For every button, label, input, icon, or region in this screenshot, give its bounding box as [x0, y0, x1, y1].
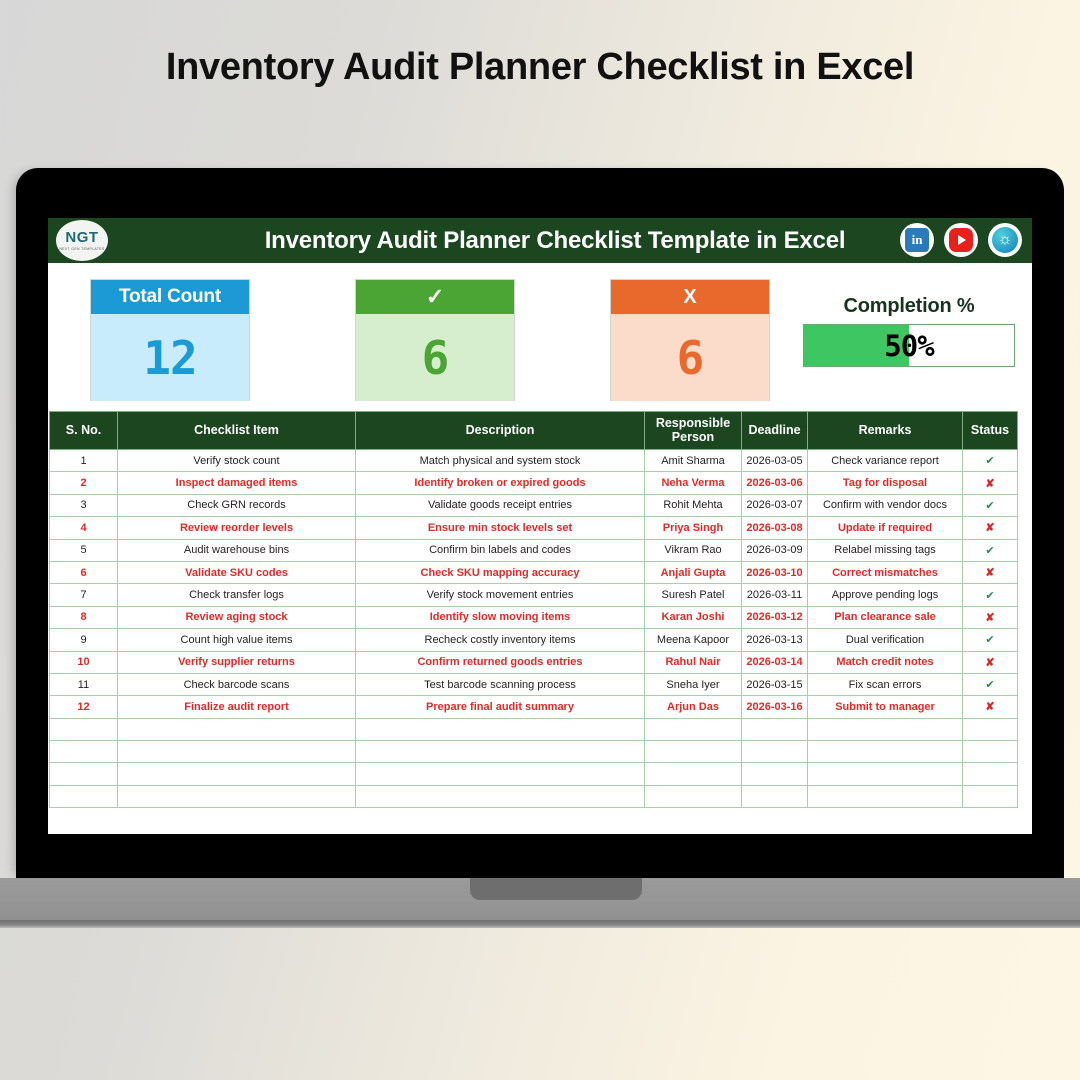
table-header-row: S. No. Checklist Item Description Respon… — [50, 412, 1018, 450]
workbook-title: Inventory Audit Planner Checklist Templa… — [48, 227, 1032, 255]
cell-sno[interactable]: 3 — [50, 494, 118, 516]
cell-remarks[interactable]: Approve pending logs — [808, 584, 963, 606]
cell-desc[interactable]: Match physical and system stock — [356, 450, 645, 472]
cell-person[interactable]: Karan Joshi — [645, 606, 742, 628]
cell-person[interactable] — [645, 785, 742, 807]
cell-sno[interactable]: 5 — [50, 539, 118, 561]
kpi-pending-caption: X — [611, 280, 769, 314]
spreadsheet-screen: NGT NEXT GEN TEMPLATES Inventory Audit P… — [48, 218, 1032, 834]
col-header-item[interactable]: Checklist Item — [118, 412, 356, 450]
cell-sno[interactable] — [50, 763, 118, 785]
cell-status[interactable]: ✘ — [963, 517, 1018, 539]
cell-deadline[interactable]: 2026-03-09 — [742, 539, 808, 561]
checklist-table-wrap: S. No. Checklist Item Description Respon… — [48, 411, 1032, 808]
cell-desc[interactable]: Prepare final audit summary — [356, 696, 645, 718]
cell-deadline[interactable]: 2026-03-10 — [742, 561, 808, 583]
completion-progress-bar: 50% — [803, 324, 1015, 367]
table-row[interactable] — [50, 763, 1018, 785]
cell-status[interactable]: ✘ — [963, 651, 1018, 673]
website-icon[interactable]: ☼ — [988, 223, 1022, 257]
youtube-glyph — [949, 228, 973, 252]
brand-logo-tagline: NEXT GEN TEMPLATES — [59, 247, 104, 251]
cell-item[interactable]: Review reorder levels — [118, 517, 356, 539]
cell-sno[interactable]: 2 — [50, 472, 118, 494]
cell-desc[interactable]: Validate goods receipt entries — [356, 494, 645, 516]
cell-status[interactable]: ✔ — [963, 673, 1018, 695]
cell-remarks[interactable] — [808, 718, 963, 740]
cell-status[interactable] — [963, 741, 1018, 763]
cell-person[interactable] — [645, 718, 742, 740]
cell-item[interactable]: Audit warehouse bins — [118, 539, 356, 561]
cell-remarks[interactable] — [808, 763, 963, 785]
cell-item[interactable]: Check barcode scans — [118, 673, 356, 695]
cell-item[interactable]: Count high value items — [118, 629, 356, 651]
checklist-table: S. No. Checklist Item Description Respon… — [49, 411, 1018, 808]
cell-remarks[interactable]: Check variance report — [808, 450, 963, 472]
cell-sno[interactable] — [50, 741, 118, 763]
cell-status[interactable]: ✔ — [963, 450, 1018, 472]
cell-remarks[interactable] — [808, 785, 963, 807]
cell-deadline[interactable] — [742, 718, 808, 740]
cell-item[interactable]: Review aging stock — [118, 606, 356, 628]
table-row[interactable]: 7Check transfer logsVerify stock movemen… — [50, 584, 1018, 606]
kpi-card-completed: ✓ 6 — [355, 279, 515, 401]
table-row[interactable]: 4Review reorder levelsEnsure min stock l… — [50, 517, 1018, 539]
cell-remarks[interactable] — [808, 741, 963, 763]
completion-widget: Completion % 50% — [803, 295, 1015, 367]
col-header-deadline[interactable]: Deadline — [742, 412, 808, 450]
brand-logo: NGT NEXT GEN TEMPLATES — [56, 220, 108, 261]
globe-glyph: ☼ — [992, 227, 1018, 253]
cell-deadline[interactable]: 2026-03-16 — [742, 696, 808, 718]
kpi-completed-value: 6 — [356, 314, 514, 401]
cell-status[interactable] — [963, 763, 1018, 785]
cell-item[interactable]: Check GRN records — [118, 494, 356, 516]
cell-deadline[interactable]: 2026-03-11 — [742, 584, 808, 606]
cell-desc[interactable]: Verify stock movement entries — [356, 584, 645, 606]
cell-status[interactable]: ✔ — [963, 629, 1018, 651]
cell-remarks[interactable]: Correct mismatches — [808, 561, 963, 583]
cell-sno[interactable]: 12 — [50, 696, 118, 718]
cell-deadline[interactable]: 2026-03-12 — [742, 606, 808, 628]
kpi-completed-caption: ✓ — [356, 280, 514, 314]
cell-sno[interactable]: 7 — [50, 584, 118, 606]
cell-person[interactable] — [645, 741, 742, 763]
cell-deadline[interactable]: 2026-03-05 — [742, 450, 808, 472]
cell-sno[interactable]: 9 — [50, 629, 118, 651]
cell-remarks[interactable]: Fix scan errors — [808, 673, 963, 695]
cell-person[interactable]: Neha Verma — [645, 472, 742, 494]
kpi-card-pending: X 6 — [610, 279, 770, 401]
cell-person[interactable]: Rohit Mehta — [645, 494, 742, 516]
cell-sno[interactable]: 4 — [50, 517, 118, 539]
cell-desc[interactable]: Confirm returned goods entries — [356, 651, 645, 673]
youtube-icon[interactable] — [944, 223, 978, 257]
cell-sno[interactable]: 10 — [50, 651, 118, 673]
cell-deadline[interactable]: 2026-03-06 — [742, 472, 808, 494]
cell-status[interactable]: ✔ — [963, 584, 1018, 606]
cell-remarks[interactable]: Match credit notes — [808, 651, 963, 673]
cell-status[interactable] — [963, 785, 1018, 807]
cell-person[interactable] — [645, 763, 742, 785]
cell-desc[interactable] — [356, 763, 645, 785]
table-row[interactable]: 2Inspect damaged itemsIdentify broken or… — [50, 472, 1018, 494]
cell-status[interactable]: ✘ — [963, 472, 1018, 494]
cell-deadline[interactable] — [742, 763, 808, 785]
kpi-pending-value: 6 — [611, 314, 769, 401]
checklist-table-body: 1Verify stock countMatch physical and sy… — [50, 450, 1018, 808]
cell-sno[interactable]: 11 — [50, 673, 118, 695]
cell-deadline[interactable] — [742, 741, 808, 763]
kpi-total-value: 12 — [91, 314, 249, 401]
cell-item[interactable]: Inspect damaged items — [118, 472, 356, 494]
cell-remarks[interactable]: Update if required — [808, 517, 963, 539]
table-row[interactable]: 10Verify supplier returnsConfirm returne… — [50, 651, 1018, 673]
cell-status[interactable]: ✔ — [963, 539, 1018, 561]
cell-item[interactable]: Check transfer logs — [118, 584, 356, 606]
linkedin-glyph: in — [905, 228, 929, 252]
table-row[interactable]: 1Verify stock countMatch physical and sy… — [50, 450, 1018, 472]
cell-sno[interactable] — [50, 785, 118, 807]
cell-status[interactable]: ✘ — [963, 606, 1018, 628]
kpi-total-caption: Total Count — [91, 280, 249, 314]
cell-remarks[interactable]: Confirm with vendor docs — [808, 494, 963, 516]
cell-item[interactable] — [118, 741, 356, 763]
cell-deadline[interactable]: 2026-03-14 — [742, 651, 808, 673]
cell-person[interactable]: Meena Kapoor — [645, 629, 742, 651]
cell-deadline[interactable]: 2026-03-07 — [742, 494, 808, 516]
cell-deadline[interactable]: 2026-03-15 — [742, 673, 808, 695]
brand-logo-text: NGT — [65, 230, 98, 245]
cell-remarks[interactable]: Tag for disposal — [808, 472, 963, 494]
cell-deadline[interactable] — [742, 785, 808, 807]
cell-person[interactable]: Suresh Patel — [645, 584, 742, 606]
cell-desc[interactable]: Test barcode scanning process — [356, 673, 645, 695]
cell-person[interactable]: Amit Sharma — [645, 450, 742, 472]
cell-status[interactable] — [963, 718, 1018, 740]
cell-person[interactable]: Arjun Das — [645, 696, 742, 718]
cell-status[interactable]: ✘ — [963, 561, 1018, 583]
completion-label: Completion % — [803, 295, 1015, 318]
linkedin-icon[interactable]: in — [900, 223, 934, 257]
cell-item[interactable]: Validate SKU codes — [118, 561, 356, 583]
cell-desc[interactable] — [356, 718, 645, 740]
cell-desc[interactable]: Identify slow moving items — [356, 606, 645, 628]
cell-remarks[interactable]: Relabel missing tags — [808, 539, 963, 561]
cell-person[interactable]: Sneha Iyer — [645, 673, 742, 695]
cell-item[interactable] — [118, 785, 356, 807]
cell-sno[interactable]: 8 — [50, 606, 118, 628]
col-header-sno[interactable]: S. No. — [50, 412, 118, 450]
col-header-desc[interactable]: Description — [356, 412, 645, 450]
cell-desc[interactable] — [356, 785, 645, 807]
table-row[interactable]: 9Count high value itemsRecheck costly in… — [50, 629, 1018, 651]
cell-remarks[interactable]: Plan clearance sale — [808, 606, 963, 628]
cell-sno[interactable] — [50, 718, 118, 740]
col-header-status[interactable]: Status — [963, 412, 1018, 450]
workbook-header: NGT NEXT GEN TEMPLATES Inventory Audit P… — [48, 218, 1032, 263]
cell-deadline[interactable]: 2026-03-08 — [742, 517, 808, 539]
laptop-mockup: NGT NEXT GEN TEMPLATES Inventory Audit P… — [16, 168, 1064, 878]
kpi-band: Total Count 12 ✓ 6 X 6 Completion % 50% — [48, 263, 1032, 411]
cell-desc[interactable]: Check SKU mapping accuracy — [356, 561, 645, 583]
cell-remarks[interactable]: Submit to manager — [808, 696, 963, 718]
table-row[interactable]: 3Check GRN recordsValidate goods receipt… — [50, 494, 1018, 516]
cell-desc[interactable]: Identify broken or expired goods — [356, 472, 645, 494]
laptop-base-lip — [0, 920, 1080, 928]
table-row[interactable] — [50, 718, 1018, 740]
cell-status[interactable]: ✘ — [963, 696, 1018, 718]
cell-item[interactable] — [118, 763, 356, 785]
completion-value: 50% — [804, 325, 1014, 366]
cell-sno[interactable]: 1 — [50, 450, 118, 472]
cell-person[interactable]: Anjali Gupta — [645, 561, 742, 583]
table-row[interactable]: 8Review aging stockIdentify slow moving … — [50, 606, 1018, 628]
page-title: Inventory Audit Planner Checklist in Exc… — [0, 46, 1080, 89]
kpi-card-total-count: Total Count 12 — [90, 279, 250, 401]
cell-person[interactable]: Vikram Rao — [645, 539, 742, 561]
laptop-base-notch — [470, 878, 642, 900]
table-row[interactable]: 11Check barcode scansTest barcode scanni… — [50, 673, 1018, 695]
cell-desc[interactable] — [356, 741, 645, 763]
cell-person[interactable]: Rahul Nair — [645, 651, 742, 673]
cell-item[interactable]: Finalize audit report — [118, 696, 356, 718]
cell-deadline[interactable]: 2026-03-13 — [742, 629, 808, 651]
table-row[interactable]: 6Validate SKU codesCheck SKU mapping acc… — [50, 561, 1018, 583]
table-row[interactable] — [50, 785, 1018, 807]
cell-desc[interactable]: Ensure min stock levels set — [356, 517, 645, 539]
cell-desc[interactable]: Recheck costly inventory items — [356, 629, 645, 651]
cell-person[interactable]: Priya Singh — [645, 517, 742, 539]
col-header-remarks[interactable]: Remarks — [808, 412, 963, 450]
table-row[interactable] — [50, 741, 1018, 763]
cell-status[interactable]: ✔ — [963, 494, 1018, 516]
cell-desc[interactable]: Confirm bin labels and codes — [356, 539, 645, 561]
col-header-person[interactable]: Responsible Person — [645, 412, 742, 450]
cell-item[interactable]: Verify stock count — [118, 450, 356, 472]
cell-item[interactable]: Verify supplier returns — [118, 651, 356, 673]
cell-item[interactable] — [118, 718, 356, 740]
cell-sno[interactable]: 6 — [50, 561, 118, 583]
cell-remarks[interactable]: Dual verification — [808, 629, 963, 651]
table-row[interactable]: 12Finalize audit reportPrepare final aud… — [50, 696, 1018, 718]
social-links: in ☼ — [900, 223, 1022, 257]
table-row[interactable]: 5Audit warehouse binsConfirm bin labels … — [50, 539, 1018, 561]
